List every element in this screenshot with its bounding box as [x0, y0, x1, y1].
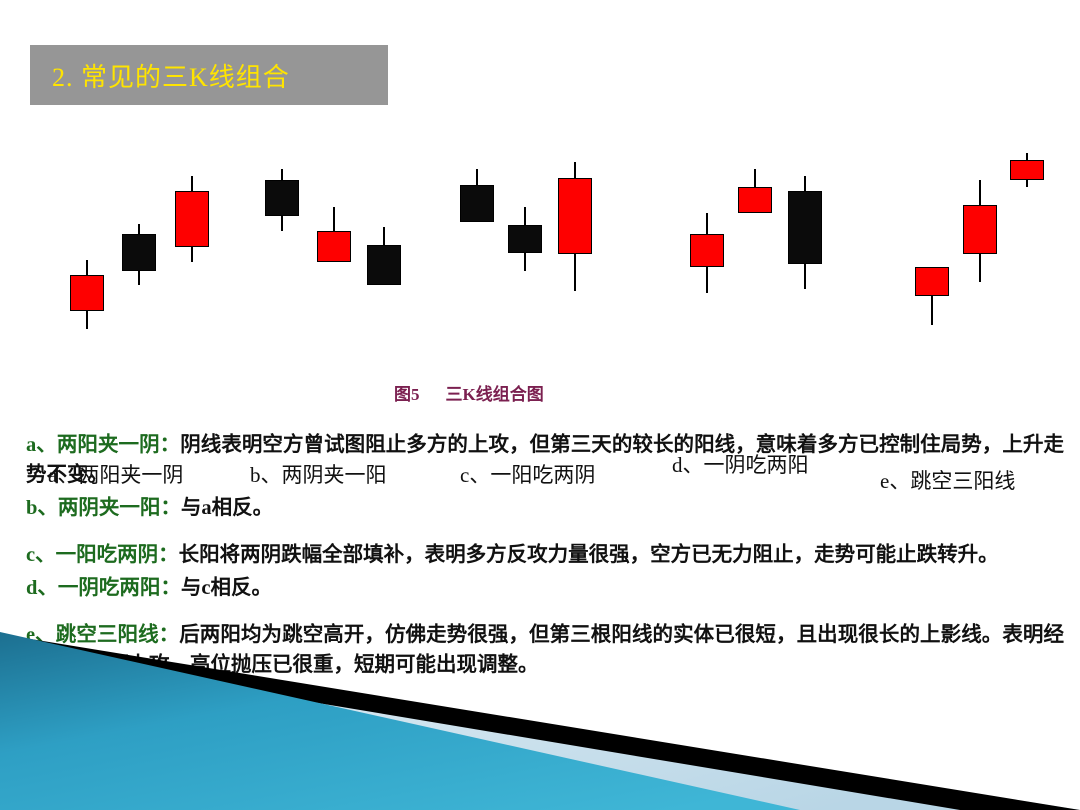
candle-body-up	[738, 187, 772, 212]
explanation-lead-b: b、两阴夹一阳：	[26, 497, 181, 519]
explanation-e: e、跳空三阳线：后两阳均为跳空高开，仿佛走势很强，但第三根阳线的实体已很短，且出…	[26, 620, 1064, 680]
explanation-body-b: 与a相反。	[181, 497, 273, 519]
candle-e-1	[915, 120, 949, 340]
candle-b-3	[367, 120, 401, 340]
candle-a-1	[70, 120, 104, 340]
figure-caption: 图5三K线组合图	[394, 380, 544, 405]
explanation-d: d、一阴吃两阳：与c相反。	[26, 573, 1064, 603]
explanation-lead-c: c、一阳吃两阴：	[26, 544, 179, 566]
candle-body-down	[122, 234, 156, 270]
candlestick-group-b	[255, 120, 425, 340]
figure-caption-number: 图5	[394, 385, 420, 404]
candle-a-3	[175, 120, 209, 340]
candlestick-group-e	[905, 120, 1075, 340]
candlestick-chart-area	[0, 120, 1080, 340]
page-title: 2. 常见的三K线组合	[30, 57, 290, 94]
candle-body-down	[460, 185, 494, 221]
explanation-lead-e: e、跳空三阳线：	[26, 624, 179, 646]
candle-body-up	[690, 234, 724, 267]
candle-body-up	[175, 191, 209, 247]
candle-d-1	[690, 120, 724, 340]
candlestick-group-c	[450, 120, 620, 340]
candle-body-down	[265, 180, 299, 216]
candle-body-down	[367, 245, 401, 285]
candle-body-up	[70, 275, 104, 311]
explanation-body-a: 阴线表明空方曾试图阻止多方的上攻，但第三天的较长的阳线，意味着多方已控制住局势，…	[26, 434, 1064, 486]
figure-caption-text: 三K线组合图	[446, 385, 544, 404]
candle-body-up	[317, 231, 351, 262]
candle-c-3	[558, 120, 592, 340]
candle-d-2	[738, 120, 772, 340]
slide-canvas: 2. 常见的三K线组合 a、两阳夹一阴b、两阴夹一阳c、一阳吃两阴d、一阴吃两阳…	[0, 0, 1080, 810]
explanation-b: b、两阴夹一阳：与a相反。	[26, 493, 1064, 523]
candlestick-figure: a、两阳夹一阴b、两阴夹一阳c、一阳吃两阴d、一阴吃两阳e、跳空三阳线	[0, 120, 1080, 410]
candle-body-up	[1010, 160, 1044, 180]
section-title-bar: 2. 常见的三K线组合	[30, 45, 388, 105]
candlestick-group-d	[680, 120, 850, 340]
candle-b-1	[265, 120, 299, 340]
candle-b-2	[317, 120, 351, 340]
explanation-c: c、一阳吃两阴：长阳将两阴跌幅全部填补，表明多方反攻力量很强，空方已无力阻止，走…	[26, 540, 1064, 570]
candle-body-down	[508, 225, 542, 252]
candle-body-down	[788, 191, 822, 264]
explanation-a: a、两阳夹一阴：阴线表明空方曾试图阻止多方的上攻，但第三天的较长的阳线，意味着多…	[26, 430, 1064, 490]
candle-body-up	[963, 205, 997, 254]
explanation-body-d: 与c相反。	[181, 577, 272, 599]
explanation-body-e: 后两阳均为跳空高开，仿佛走势很强，但第三根阳线的实体已很短，且出现很长的上影线。…	[26, 624, 1064, 676]
candle-body-up	[558, 178, 592, 254]
explanation-lead-a: a、两阳夹一阴：	[26, 434, 180, 456]
candle-e-2	[963, 120, 997, 340]
explanation-lead-d: d、一阴吃两阳：	[26, 577, 181, 599]
candle-body-up	[915, 267, 949, 296]
candle-e-3	[1010, 120, 1044, 340]
candlestick-group-a	[60, 120, 230, 340]
candle-c-2	[508, 120, 542, 340]
candle-d-3	[788, 120, 822, 340]
candle-c-1	[460, 120, 494, 340]
explanation-list: a、两阳夹一阴：阴线表明空方曾试图阻止多方的上攻，但第三天的较长的阳线，意味着多…	[26, 430, 1064, 683]
candle-a-2	[122, 120, 156, 340]
explanation-body-c: 长阳将两阴跌幅全部填补，表明多方反攻力量很强，空方已无力阻止，走势可能止跌转升。	[179, 544, 999, 566]
